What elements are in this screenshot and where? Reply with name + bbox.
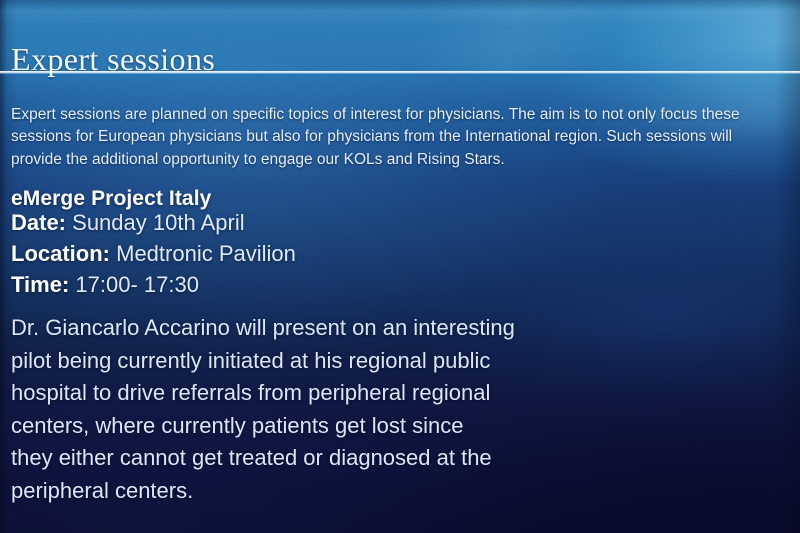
detail-label-time: Time: [11, 272, 69, 297]
detail-row-location: Location: Medtronic Pavilion [11, 238, 296, 269]
title-divider [0, 71, 800, 74]
description-line: they either cannot get treated or diagno… [11, 442, 515, 475]
description-line: centers, where currently patients get lo… [11, 410, 515, 443]
detail-row-date: Date: Sunday 10th April [11, 207, 296, 238]
slide-content: Expert sessions Expert sessions are plan… [0, 0, 800, 533]
intro-paragraph: Expert sessions are planned on specific … [11, 104, 773, 172]
detail-row-time: Time: 17:00- 17:30 [11, 269, 296, 300]
session-description: Dr. Giancarlo Accarino will present on a… [11, 312, 515, 507]
detail-label-date: Date: [11, 210, 66, 235]
detail-value-date: Sunday 10th April [72, 210, 244, 235]
detail-value-location: Medtronic Pavilion [116, 241, 296, 266]
description-line: hospital to drive referrals from periphe… [11, 377, 515, 410]
description-line: pilot being currently initiated at his r… [11, 345, 515, 378]
detail-value-time: 17:00- 17:30 [75, 272, 199, 297]
description-line: peripheral centers. [11, 475, 515, 508]
detail-label-location: Location: [11, 241, 110, 266]
session-details: Date: Sunday 10th April Location: Medtro… [11, 207, 296, 300]
description-line: Dr. Giancarlo Accarino will present on a… [11, 312, 515, 345]
expert-sessions-slide: Expert sessions Expert sessions are plan… [0, 0, 800, 533]
